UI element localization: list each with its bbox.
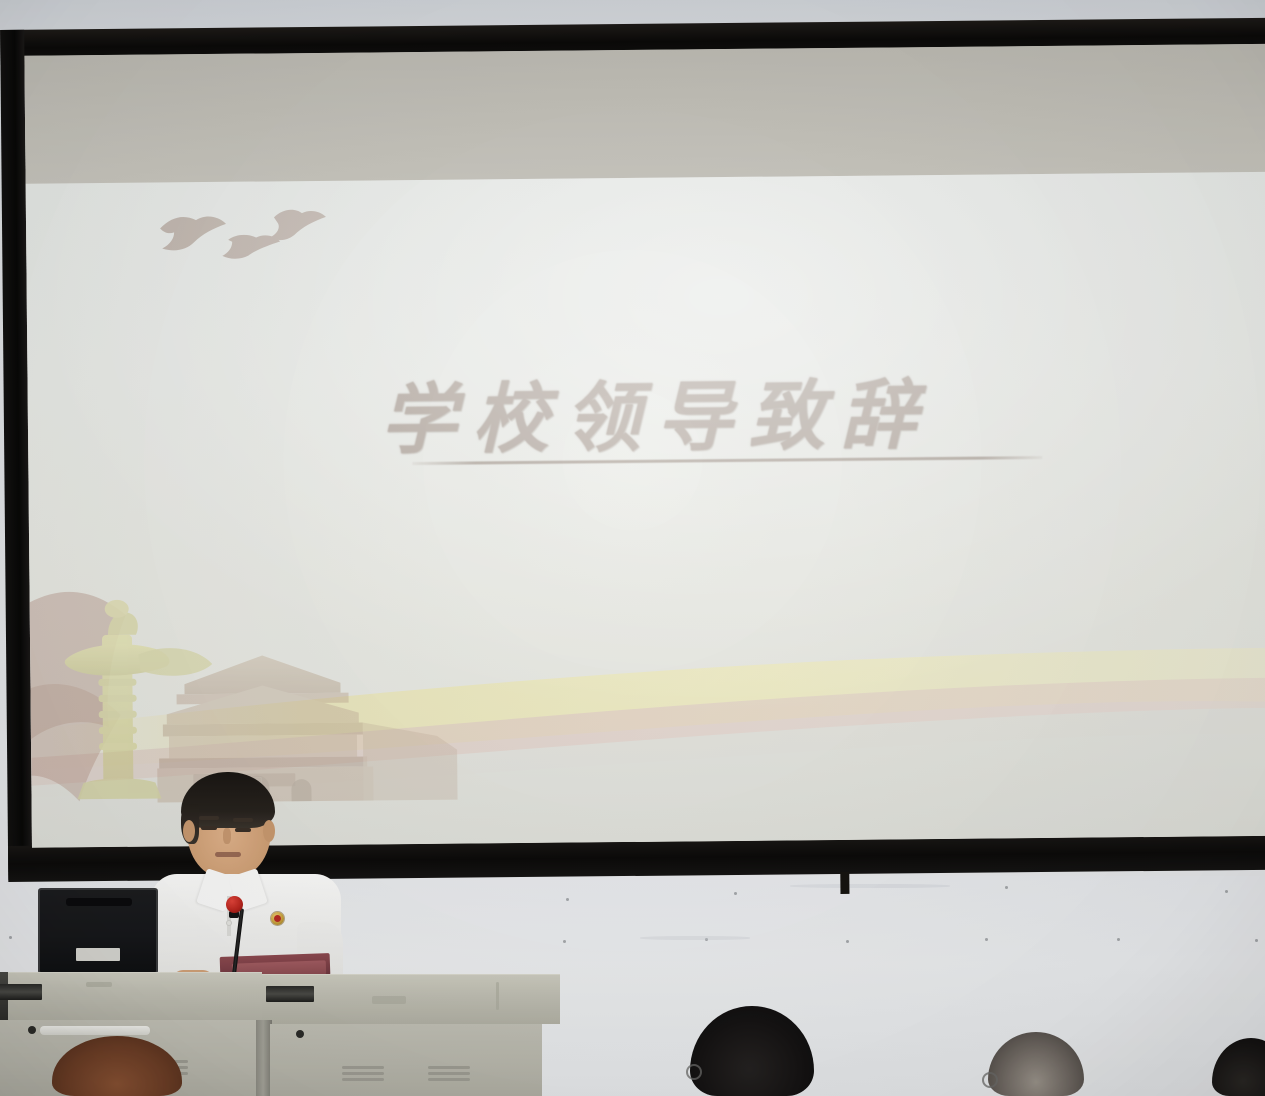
screen-cloth: 中华人民共和国 (24, 44, 1265, 848)
speaker-shirt-button-bottom (226, 920, 232, 926)
screen-mount-bracket (840, 872, 849, 894)
lectern-panel-right (270, 1024, 542, 1096)
slide-title-block: 学校领导致辞 (27, 350, 1265, 486)
lectern-vent-right (428, 1066, 470, 1069)
audience-hair-grey (988, 1032, 1084, 1096)
speaker-ear-left (183, 820, 195, 842)
lectern-vent-center (342, 1066, 384, 1069)
speaker-brow-left (199, 816, 219, 820)
audience-member-grey-haired (988, 1032, 1084, 1096)
lectern-pull-handle[interactable] (40, 1026, 150, 1035)
lectern-lock-left[interactable] (28, 1026, 36, 1034)
audience-hair-auburn (52, 1036, 182, 1096)
audience-member-front-left (52, 1036, 182, 1096)
audience-member-right-edge (1212, 1038, 1265, 1096)
projected-slide: 中华人民共和国 (26, 172, 1265, 848)
speaker-brow-right (233, 818, 253, 822)
lectern-port-badge-right (266, 986, 314, 1002)
monitor-label (76, 948, 120, 961)
photo-canvas: 中华人民共和国 (0, 0, 1265, 1096)
microphone-head (226, 896, 243, 913)
lapel-pin-badge (271, 912, 284, 925)
eyeglasses-icon-2 (982, 1072, 998, 1088)
lectern-lock-right[interactable] (296, 1030, 304, 1038)
audience-hair-black (690, 1006, 814, 1096)
podium-monitor (38, 888, 158, 974)
projection-screen: 中华人民共和国 (0, 2, 1265, 880)
doves-illustration (156, 205, 347, 287)
monitor-handle-slot (66, 898, 132, 906)
speaker-eye-left (201, 826, 217, 830)
speaker-nose (223, 828, 231, 844)
speaker-eye-right (235, 828, 251, 832)
eyeglasses-icon (686, 1064, 702, 1080)
audience-hair-black-2 (1212, 1038, 1265, 1096)
screen-unlit-band (24, 44, 1265, 186)
lectern-port-badge-left (0, 984, 42, 1000)
speaker-ear-right (263, 820, 275, 842)
audience-member-with-glasses (690, 1006, 814, 1096)
speaker-mouth (215, 852, 241, 857)
